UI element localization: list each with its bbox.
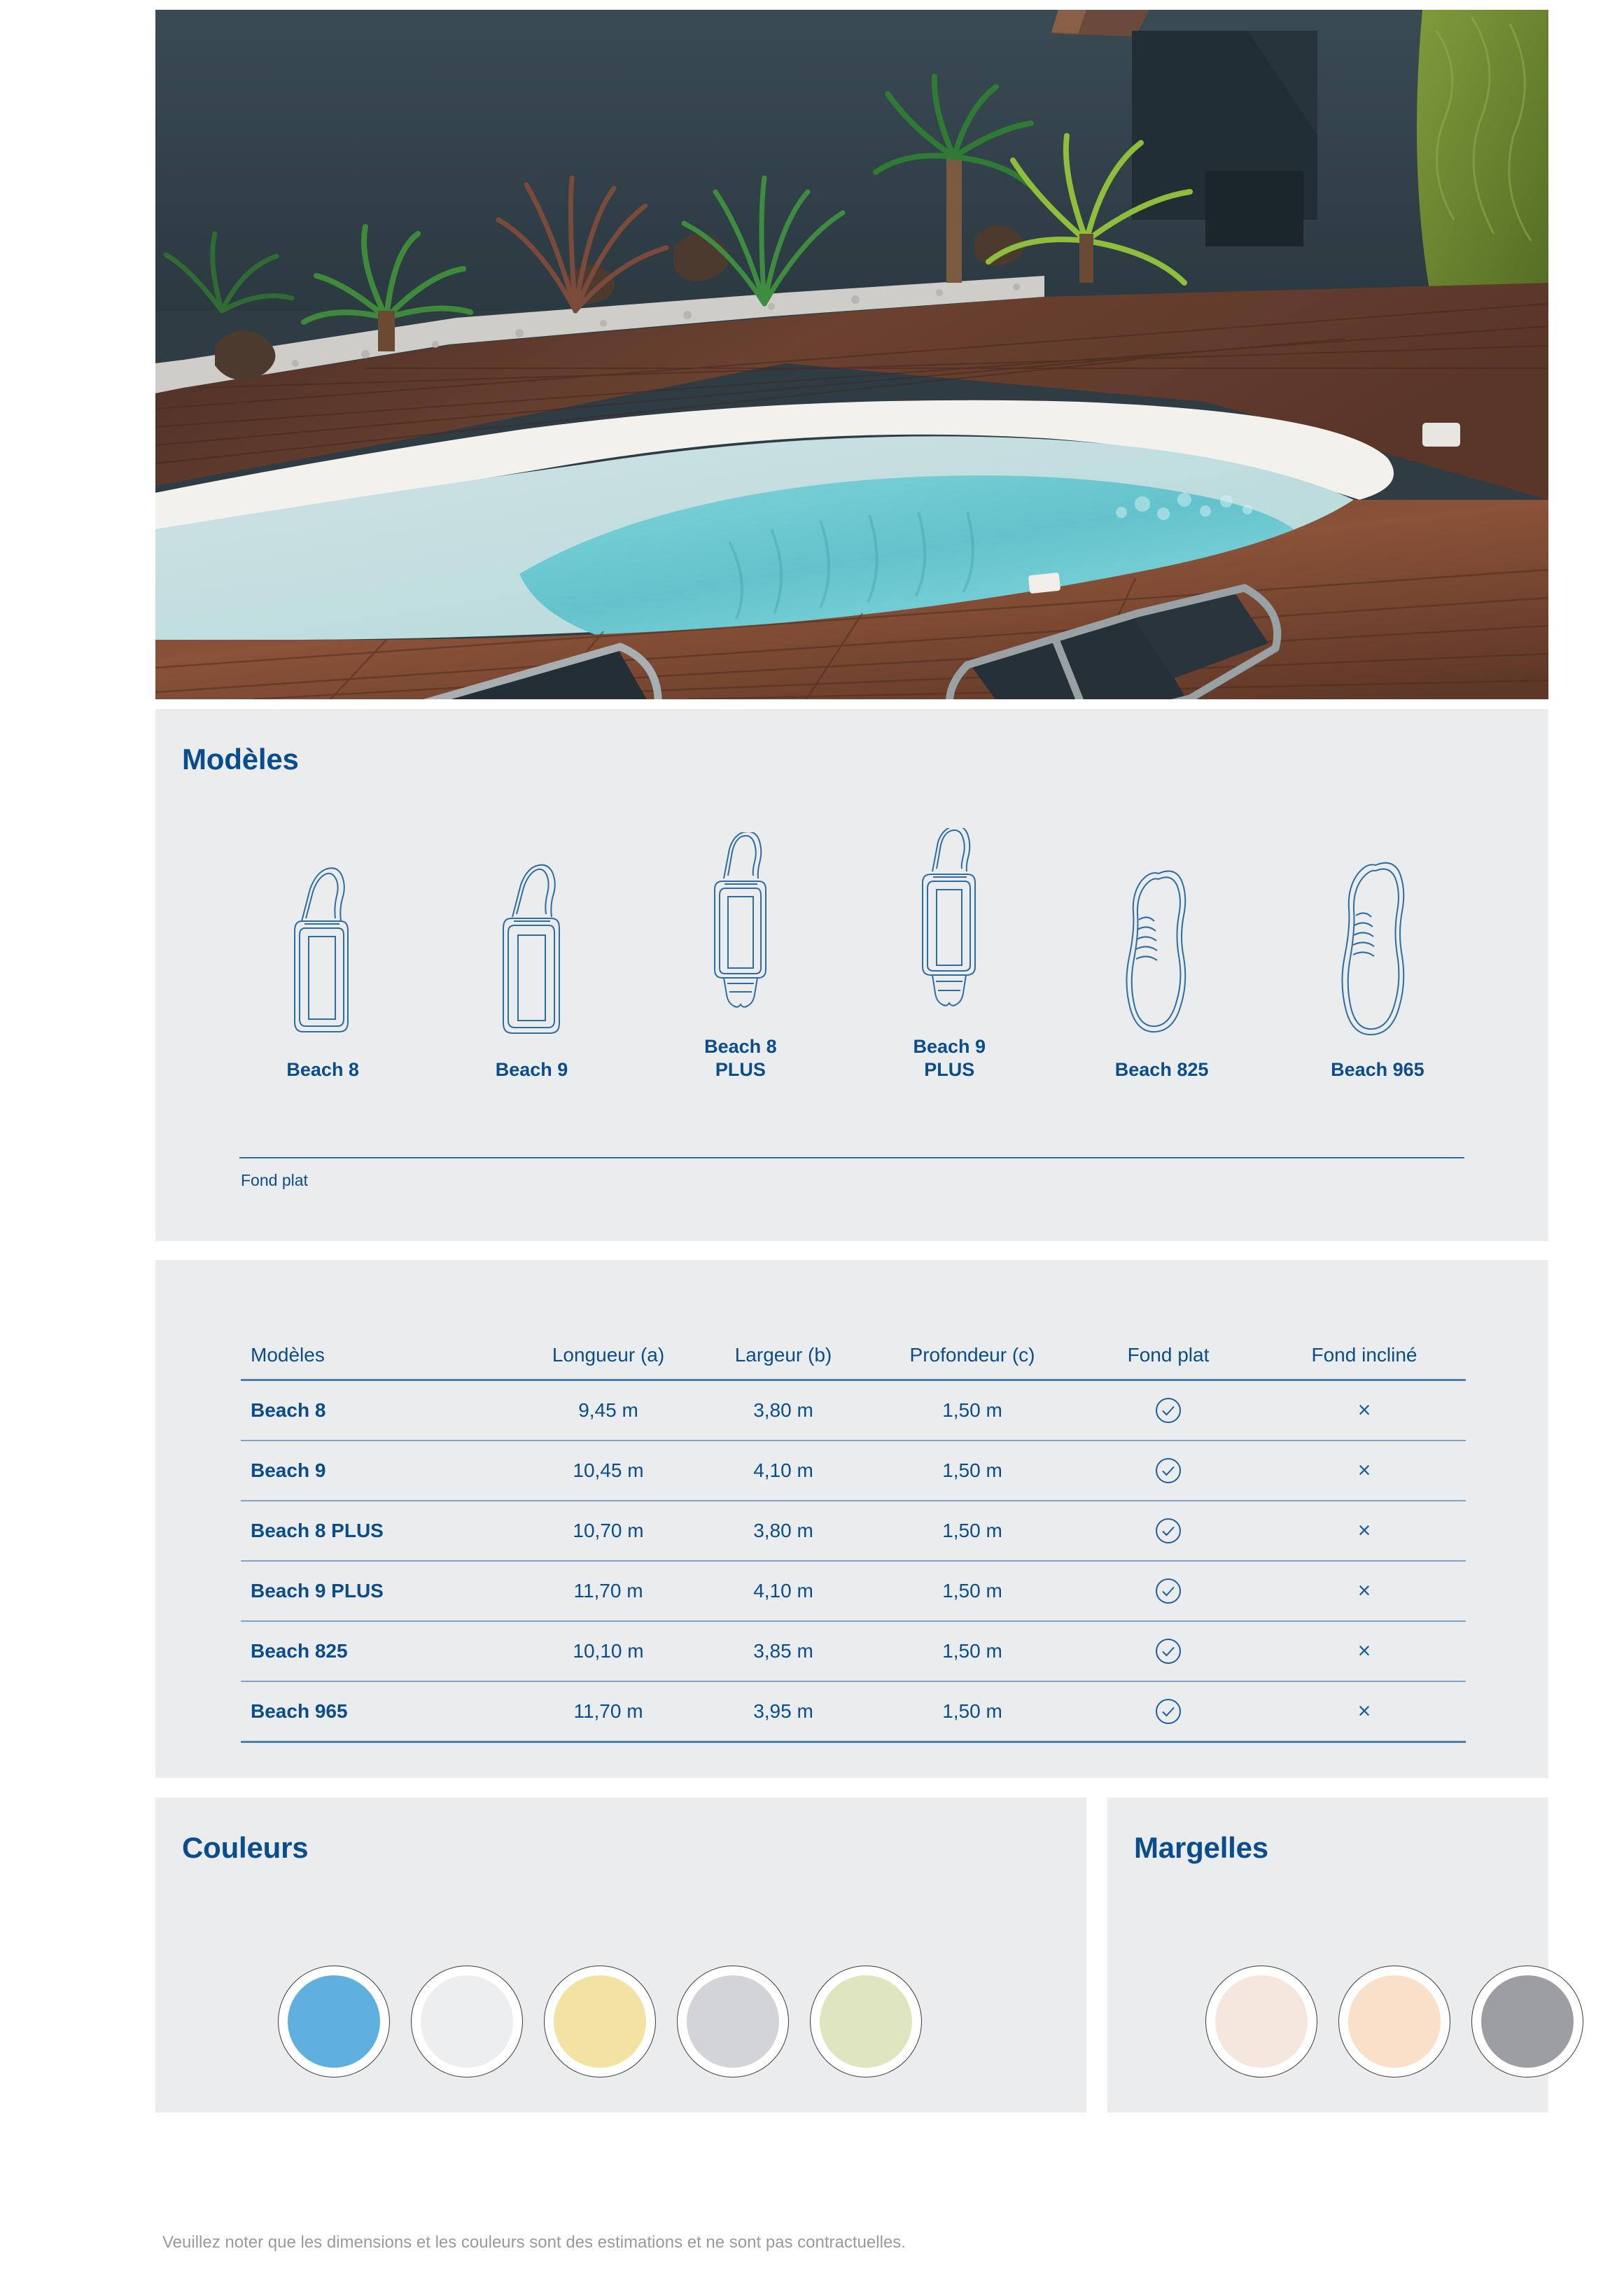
check-circle-icon	[1155, 1457, 1182, 1484]
cell-fond-plat	[1074, 1501, 1263, 1561]
footer-disclaimer: Veuillez noter que les dimensions et les…	[162, 2233, 906, 2253]
beach-965-shape-icon	[1332, 857, 1423, 1039]
model-label: Beach 9 PLUS	[913, 1035, 986, 1081]
models-row: Beach 8 Beach 9	[218, 834, 1485, 1081]
cell-profondeur: 1,50 m	[871, 1561, 1074, 1621]
cell-fond-plat	[1074, 1561, 1263, 1621]
cell-fond-plat	[1074, 1621, 1263, 1681]
cell-model: Beach 8 PLUS	[241, 1501, 521, 1561]
model-item-beach-8[interactable]: Beach 8	[218, 857, 427, 1081]
model-item-beach-9-plus[interactable]: Beach 9 PLUS	[845, 834, 1053, 1081]
table-body: Beach 8 9,45 m 3,80 m 1,50 m × Beach 9 1…	[241, 1380, 1466, 1742]
cross-icon: ×	[1358, 1397, 1371, 1422]
colors-panel: Couleurs	[155, 1798, 1086, 2113]
table-header-row: Modèles Longueur (a) Largeur (b) Profond…	[241, 1337, 1466, 1380]
cell-profondeur: 1,50 m	[871, 1441, 1074, 1501]
table-header-fond-incline: Fond incliné	[1263, 1337, 1466, 1380]
swatch-fill	[1481, 1975, 1574, 2068]
check-circle-icon	[1155, 1518, 1182, 1544]
swatch-fill	[1215, 1975, 1308, 2068]
check-circle-icon	[1155, 1698, 1182, 1725]
color-swatch-vert-amande[interactable]	[810, 1966, 922, 2078]
models-legend-fond-plat: Fond plat	[241, 1171, 308, 1190]
beach-825-shape-icon	[1116, 857, 1207, 1039]
cell-fond-incline: ×	[1263, 1501, 1466, 1561]
cell-largeur: 4,10 m	[696, 1441, 871, 1501]
cell-longueur: 11,70 m	[521, 1561, 696, 1621]
swatch-fill	[687, 1975, 779, 2068]
models-panel-title: Modèles	[182, 743, 299, 776]
colors-panel-title: Couleurs	[182, 1831, 308, 1865]
color-swatch-blanc[interactable]	[411, 1966, 523, 2078]
table-header-largeur: Largeur (b)	[696, 1337, 871, 1380]
color-swatch-gris[interactable]	[677, 1966, 789, 2078]
cell-model: Beach 9	[241, 1441, 521, 1501]
swatch-fill	[421, 1975, 513, 2068]
cell-fond-plat	[1074, 1681, 1263, 1742]
model-item-beach-825[interactable]: Beach 825	[1053, 857, 1269, 1081]
color-swatch-row	[278, 1966, 922, 2078]
cell-fond-plat	[1074, 1441, 1263, 1501]
model-label: Beach 965	[1331, 1058, 1424, 1081]
color-swatch-bleu[interactable]	[278, 1966, 390, 2078]
cell-fond-incline: ×	[1263, 1380, 1466, 1441]
table-row: Beach 8 PLUS 10,70 m 3,80 m 1,50 m ×	[241, 1501, 1466, 1561]
check-circle-icon	[1155, 1397, 1182, 1424]
table-row: Beach 965 11,70 m 3,95 m 1,50 m ×	[241, 1681, 1466, 1742]
cell-profondeur: 1,50 m	[871, 1501, 1074, 1561]
beach-9-plus-shape-icon	[907, 834, 991, 1016]
cell-model: Beach 8	[241, 1380, 521, 1441]
cell-profondeur: 1,50 m	[871, 1621, 1074, 1681]
cell-fond-incline: ×	[1263, 1441, 1466, 1501]
cell-profondeur: 1,50 m	[871, 1380, 1074, 1441]
table-row: Beach 825 10,10 m 3,85 m 1,50 m ×	[241, 1621, 1466, 1681]
cross-icon: ×	[1358, 1698, 1371, 1723]
spec-table-panel: Modèles Longueur (a) Largeur (b) Profond…	[155, 1260, 1548, 1778]
cell-model: Beach 965	[241, 1681, 521, 1742]
check-circle-icon	[1155, 1638, 1182, 1665]
margelle-swatch-gris-fonce[interactable]	[1471, 1966, 1583, 2078]
spec-table: Modèles Longueur (a) Largeur (b) Profond…	[241, 1337, 1466, 1743]
cell-longueur: 10,10 m	[521, 1621, 696, 1681]
cell-longueur: 10,45 m	[521, 1441, 696, 1501]
cell-largeur: 3,95 m	[696, 1681, 871, 1742]
color-swatch-sable[interactable]	[544, 1966, 656, 2078]
cell-fond-plat	[1074, 1380, 1263, 1441]
cell-longueur: 11,70 m	[521, 1681, 696, 1742]
cell-largeur: 3,80 m	[696, 1501, 871, 1561]
cell-largeur: 4,10 m	[696, 1561, 871, 1621]
table-header-modeles: Modèles	[241, 1337, 521, 1380]
model-item-beach-8-plus[interactable]: Beach 8 PLUS	[636, 834, 845, 1081]
table-header-fond-plat: Fond plat	[1074, 1337, 1263, 1380]
cell-model: Beach 9 PLUS	[241, 1561, 521, 1621]
check-circle-icon	[1155, 1578, 1182, 1604]
margelle-swatch-peche[interactable]	[1338, 1966, 1450, 2078]
margelle-swatch-beige-clair[interactable]	[1205, 1966, 1317, 2078]
models-divider	[239, 1157, 1464, 1158]
cross-icon: ×	[1358, 1578, 1371, 1603]
model-label: Beach 8	[286, 1058, 359, 1081]
beach-9-shape-icon	[490, 857, 574, 1039]
margelles-panel: Margelles	[1107, 1798, 1548, 2113]
cell-fond-incline: ×	[1263, 1621, 1466, 1681]
table-header-longueur: Longueur (a)	[521, 1337, 696, 1380]
cross-icon: ×	[1358, 1638, 1371, 1663]
model-label: Beach 9	[496, 1058, 568, 1081]
cell-model: Beach 825	[241, 1621, 521, 1681]
table-row: Beach 9 PLUS 11,70 m 4,10 m 1,50 m ×	[241, 1561, 1466, 1621]
cell-fond-incline: ×	[1263, 1681, 1466, 1742]
beach-8-plus-shape-icon	[699, 834, 783, 1016]
cell-largeur: 3,80 m	[696, 1380, 871, 1441]
beach-8-shape-icon	[281, 857, 365, 1039]
models-panel: Modèles Beach 8	[155, 709, 1548, 1241]
model-label: Beach 8 PLUS	[704, 1035, 777, 1081]
swatch-fill	[554, 1975, 646, 2068]
cross-icon: ×	[1358, 1518, 1371, 1543]
cell-fond-incline: ×	[1263, 1561, 1466, 1621]
cell-largeur: 3,85 m	[696, 1621, 871, 1681]
cross-icon: ×	[1358, 1457, 1371, 1483]
table-header-profondeur: Profondeur (c)	[871, 1337, 1074, 1380]
table-row: Beach 9 10,45 m 4,10 m 1,50 m ×	[241, 1441, 1466, 1501]
model-item-beach-9[interactable]: Beach 9	[427, 857, 636, 1081]
pool-photo-illustration	[155, 10, 1548, 699]
hero-photo	[155, 10, 1548, 699]
cell-longueur: 10,70 m	[521, 1501, 696, 1561]
cell-longueur: 9,45 m	[521, 1380, 696, 1441]
cell-profondeur: 1,50 m	[871, 1681, 1074, 1742]
model-label: Beach 825	[1115, 1058, 1209, 1081]
margelles-panel-title: Margelles	[1134, 1831, 1268, 1865]
swatch-fill	[288, 1975, 380, 2068]
swatch-fill	[820, 1975, 912, 2068]
table-row: Beach 8 9,45 m 3,80 m 1,50 m ×	[241, 1380, 1466, 1441]
swatch-fill	[1348, 1975, 1441, 2068]
model-item-beach-965[interactable]: Beach 965	[1270, 857, 1485, 1081]
margelle-swatch-row	[1205, 1966, 1583, 2078]
